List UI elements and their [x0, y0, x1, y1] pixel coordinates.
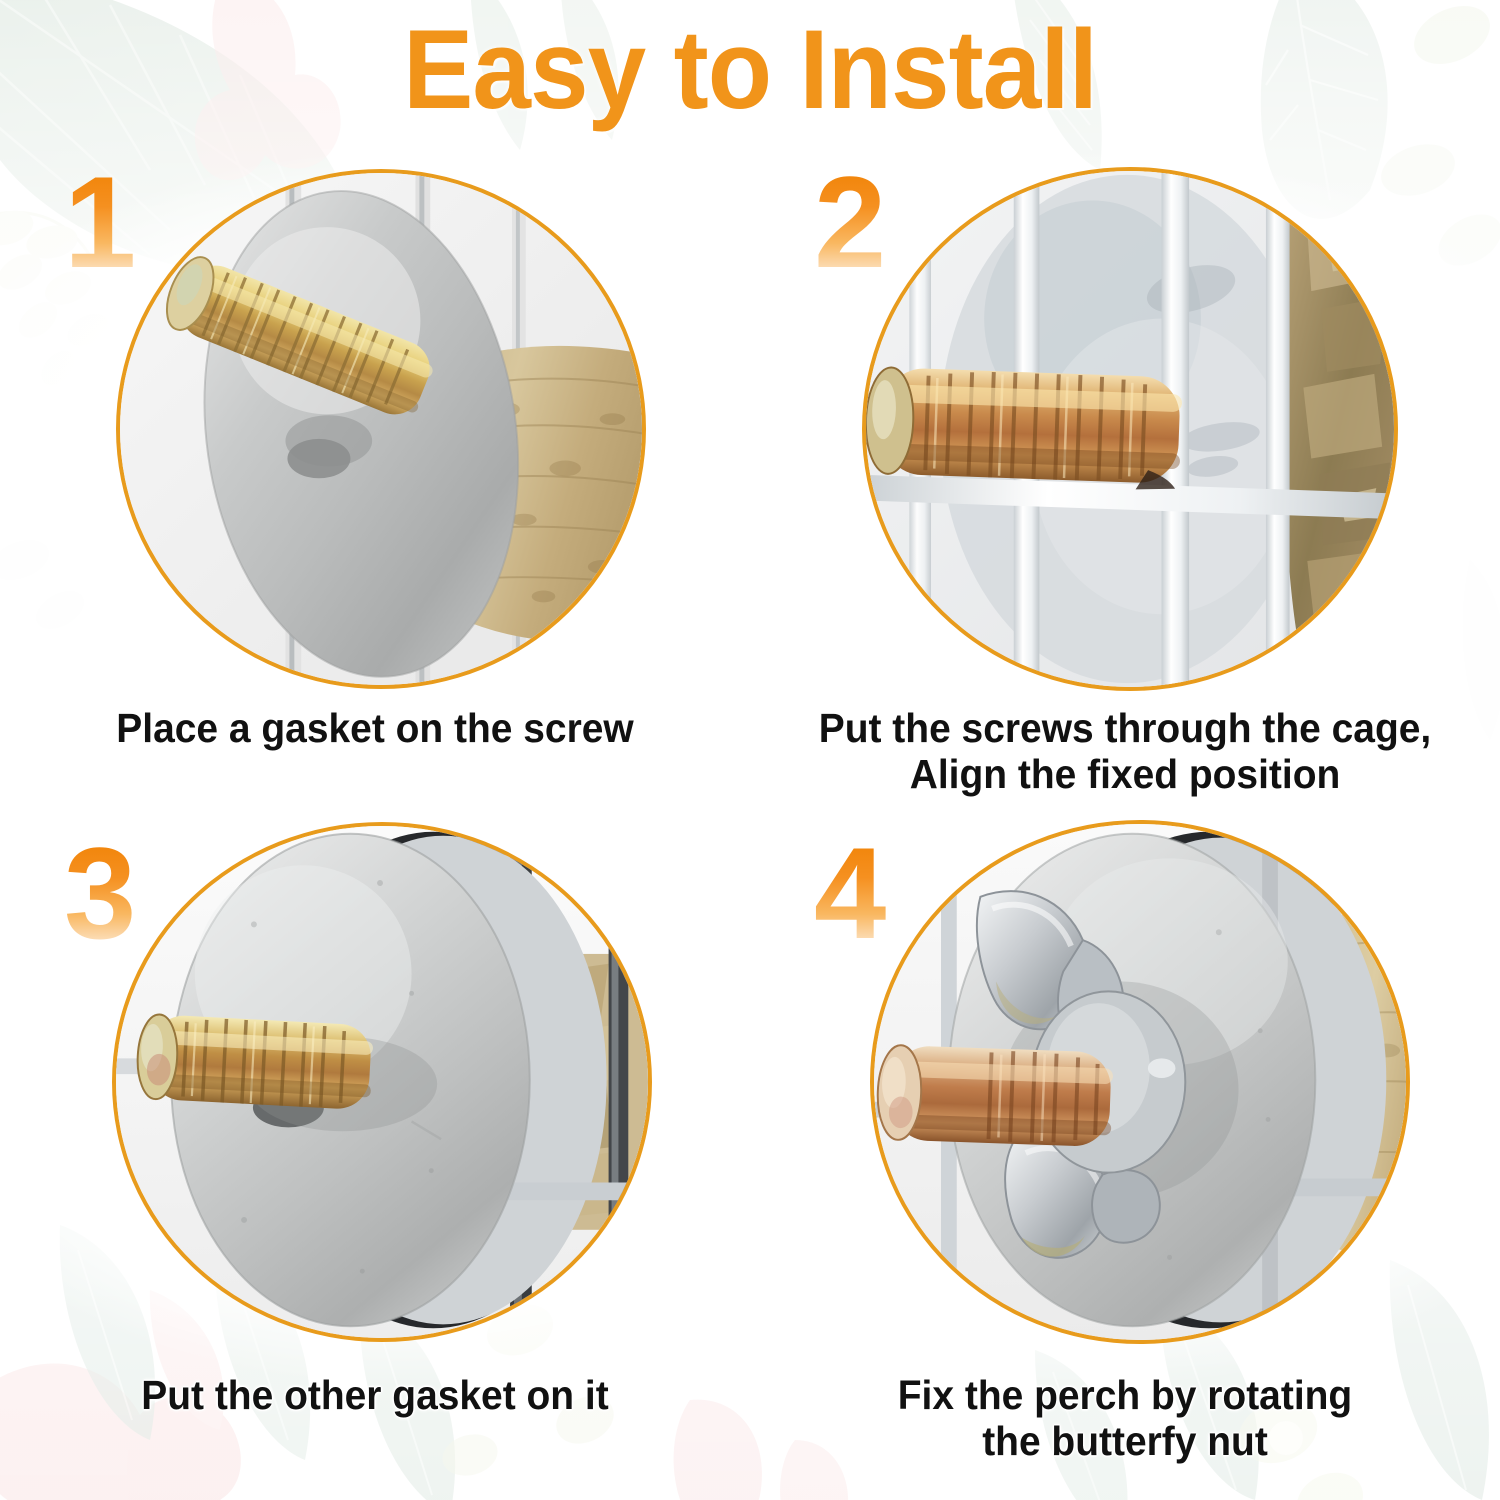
photo-gasket-on-screw: [120, 173, 642, 685]
step-panel-2: 2: [750, 145, 1500, 805]
step-photo-1: [116, 169, 646, 689]
step-caption-1: Place a gasket on the screw: [19, 705, 732, 751]
step-panel-3: 3: [0, 800, 750, 1460]
step-caption-2: Put the screws through the cage, Align t…: [769, 705, 1482, 798]
photo-second-gasket: [116, 826, 648, 1338]
step-number-4: 4: [814, 828, 886, 958]
step-number-2: 2: [814, 157, 886, 287]
step-caption-4: Fix the perch by rotating the butterfy n…: [769, 1372, 1482, 1465]
step-photo-3: [112, 822, 652, 1342]
caption-line: Put the other gasket on it: [19, 1372, 732, 1418]
page-title: Easy to Install: [403, 10, 1097, 131]
step-number-1: 1: [64, 157, 136, 287]
step-photo-2: [862, 167, 1398, 691]
caption-line: Align the fixed position: [769, 751, 1482, 797]
step-photo-4: [870, 820, 1410, 1344]
caption-line: Put the screws through the cage,: [769, 705, 1482, 751]
step-panel-4: 4: [750, 800, 1500, 1460]
step-caption-3: Put the other gasket on it: [19, 1372, 732, 1418]
step-panel-1: 1: [0, 145, 750, 805]
photo-butterfly-nut: [874, 824, 1406, 1340]
step-number-3: 3: [64, 828, 136, 958]
caption-line: Place a gasket on the screw: [19, 705, 732, 751]
caption-line: Fix the perch by rotating: [769, 1372, 1482, 1418]
caption-line: the butterfy nut: [769, 1418, 1482, 1464]
photo-screw-through-cage: [866, 171, 1394, 687]
title-bar: Easy to Install: [0, 10, 1500, 131]
